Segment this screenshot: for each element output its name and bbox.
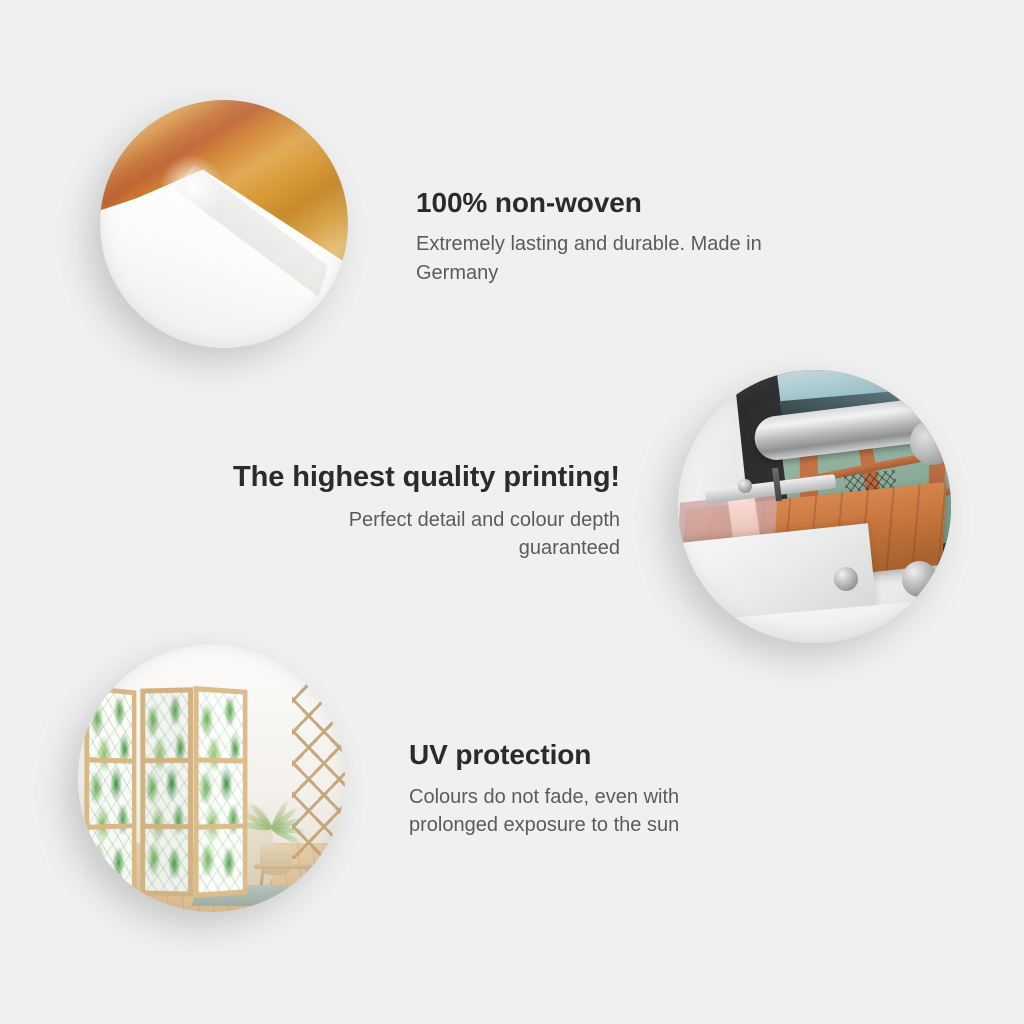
feature-subline: Perfect detail and colour depth guarante…: [320, 506, 620, 563]
feature-uv-protection-media: [56, 637, 361, 942]
feature-headline: The highest quality printing!: [150, 461, 620, 495]
divider-panel: [140, 687, 193, 897]
feature-subline: Colours do not fade, even with prolonged…: [409, 783, 769, 840]
feature-headline: 100% non-woven: [416, 187, 958, 219]
large-format-printer-photo: [678, 370, 951, 643]
printer-scene: [678, 370, 951, 643]
tropical-room-divider-photo: [78, 645, 345, 912]
printer-knob: [834, 567, 859, 592]
wallpaper-scene: [100, 100, 348, 348]
divider-panel: [85, 685, 137, 899]
feature-subline: Extremely lasting and durable. Made in G…: [416, 230, 846, 287]
feature-non-woven-copy: 100% non-woven Extremely lasting and dur…: [368, 187, 958, 288]
feature-printing-quality: The highest quality printing! Perfect de…: [150, 362, 962, 662]
printer-knob: [902, 561, 937, 596]
printer-knob: [738, 479, 752, 493]
side-table-leg: [305, 868, 311, 896]
interior-scene: [78, 645, 345, 912]
divider-panel-rail: [145, 823, 188, 828]
feature-non-woven: 100% non-woven Extremely lasting and dur…: [78, 92, 958, 382]
feature-printing-quality-copy: The highest quality printing! Perfect de…: [150, 461, 662, 563]
peeling-non-woven-wallpaper-photo: [100, 100, 348, 348]
divider-panel-rail: [198, 823, 242, 829]
divider-panel: [193, 686, 247, 898]
feature-non-woven-media: [78, 92, 368, 382]
feature-board: 100% non-woven Extremely lasting and dur…: [0, 0, 1024, 1024]
folding-room-divider: [83, 688, 249, 896]
wallpaper-fold-highlight: [160, 155, 224, 219]
feature-printing-quality-media: [662, 362, 962, 662]
divider-panel-rail: [90, 823, 133, 829]
feature-uv-protection-copy: UV protection Colours do not fade, even …: [361, 739, 956, 840]
feature-uv-protection: UV protection Colours do not fade, even …: [56, 637, 956, 942]
feature-headline: UV protection: [409, 739, 956, 771]
